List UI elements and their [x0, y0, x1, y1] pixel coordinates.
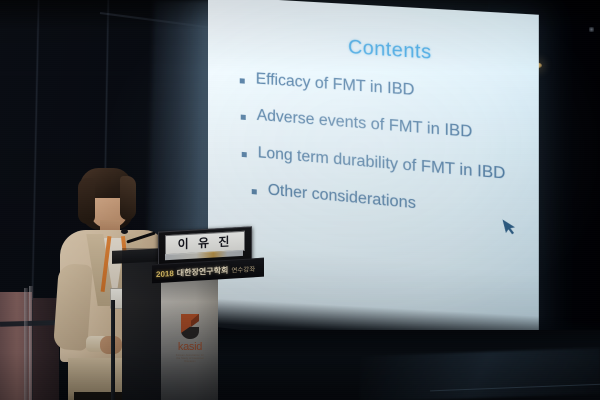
- bullet-square-icon: [241, 115, 246, 120]
- floor-reflection: [360, 348, 600, 400]
- bullet-square-icon: [240, 78, 245, 83]
- list-item: Long term durability of FMT in IBD: [242, 143, 526, 184]
- kasid-subtitle: Korean Association for the Study of Inte…: [174, 354, 206, 363]
- banner-event: 연수강좌: [231, 263, 255, 274]
- slide-title: Contents: [260, 31, 526, 71]
- list-item: Efficacy of FMT in IBD: [240, 70, 526, 107]
- bullet-label: Long term durability of FMT in IBD: [258, 145, 506, 183]
- list-item: Adverse events of FMT in IBD: [241, 107, 526, 146]
- presentation-photo-scene: Contents Efficacy of FMT in IBD Adverse …: [0, 0, 600, 400]
- kasid-mark-icon: [178, 312, 202, 340]
- speaker-name: 이 유 진: [178, 235, 233, 250]
- kasid-wordmark: kasid: [174, 341, 206, 353]
- bullet-label: Adverse events of FMT in IBD: [257, 108, 473, 142]
- microphone-head-icon: [121, 229, 128, 234]
- stage-rail-post: [24, 288, 28, 400]
- wall-highlight-speck: [589, 27, 594, 32]
- speaker-hair-right: [120, 176, 136, 220]
- banner-organization: 대한장연구학회: [177, 264, 229, 278]
- bullet-square-icon: [252, 189, 257, 195]
- slide-bullet-list: Efficacy of FMT in IBD Adverse events of…: [240, 70, 526, 222]
- podium-side-pole: [111, 300, 115, 400]
- left-wall-panel-edge: [29, 286, 33, 400]
- list-item: Other considerations: [252, 181, 526, 223]
- kasid-logo: kasid Korean Association for the Study o…: [174, 312, 206, 360]
- bullet-label: Efficacy of FMT in IBD: [256, 71, 415, 99]
- banner-year: 2018: [156, 269, 174, 279]
- bullet-square-icon: [242, 151, 247, 156]
- bullet-label: Other considerations: [268, 182, 416, 212]
- speaker-hair-left: [78, 178, 95, 224]
